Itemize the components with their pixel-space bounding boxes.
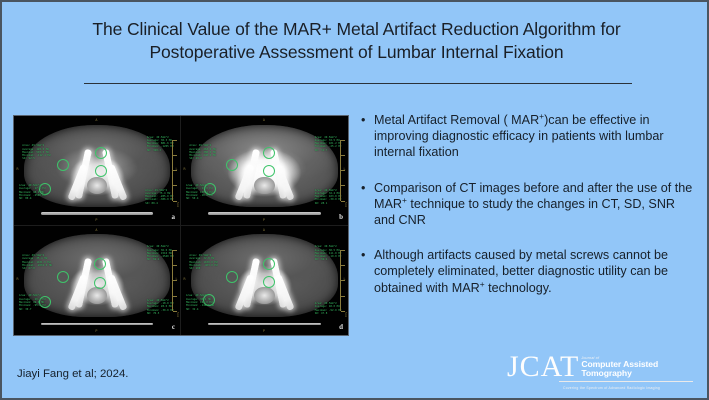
list-item: •Comparison of CT images before and afte… bbox=[360, 180, 698, 229]
roi-annotation: Area: 49.5mm^2 Average: 120.5 HU Maximum… bbox=[22, 144, 50, 160]
presentation-slide: The Clinical Value of the MAR+ Metal Art… bbox=[0, 0, 709, 400]
roi-annotation: Area: 49.5mm^2 Average: -14.0 HU Maximum… bbox=[186, 184, 213, 200]
ct-figure: Area: 49.5mm^2 Average: 120.5 HU Maximum… bbox=[13, 115, 349, 336]
roi-annotation: Area: 49.5mm^2 Average: -20.4 HU Maximum… bbox=[19, 294, 46, 310]
orientation-right: R bbox=[16, 277, 18, 281]
bullet-list: •Metal Artifact Removal ( MAR+)can be ef… bbox=[360, 112, 698, 296]
roi-circle bbox=[94, 258, 106, 270]
orientation-anterior: A bbox=[95, 118, 97, 122]
roi-annotation: Area: 49.5mm^2 Average: 75.4 HU Maximum:… bbox=[145, 189, 173, 205]
page-title: The Clinical Value of the MAR+ Metal Art… bbox=[44, 18, 669, 64]
ct-table-bar bbox=[208, 212, 322, 215]
roi-annotation: Area: 49.5mm^2 Average: 30.5 HU Maximum:… bbox=[315, 245, 342, 261]
roi-circle bbox=[263, 276, 275, 288]
panel-label-c: c bbox=[172, 323, 175, 331]
bullet-text-post: technology. bbox=[485, 281, 552, 295]
orientation-anterior: A bbox=[95, 228, 97, 232]
scale-label: 5cm bbox=[344, 312, 348, 317]
orientation-posterior: P bbox=[95, 218, 97, 222]
orientation-right: R bbox=[16, 167, 18, 171]
roi-annotation: Area: 49.5mm^2 Average: 35.4 HU Maximum:… bbox=[22, 254, 52, 270]
roi-annotation: Area: 49.5mm^2 Average: 33.5 HU Maximum:… bbox=[315, 136, 342, 152]
list-item: •Metal Artifact Removal ( MAR+)can be ef… bbox=[360, 112, 698, 161]
ct-table-bar bbox=[208, 323, 322, 326]
orientation-right: R bbox=[184, 167, 186, 171]
orientation-anterior: A bbox=[263, 118, 265, 122]
ct-panel-a: Area: 49.5mm^2 Average: 120.5 HU Maximum… bbox=[14, 116, 181, 226]
vertebral-body bbox=[254, 177, 274, 194]
orientation-posterior: P bbox=[263, 218, 265, 222]
scale-ruler bbox=[172, 140, 178, 201]
vertebral-body bbox=[87, 287, 107, 305]
roi-annotation: Area: 49.5mm^2 Average: 263.0 HU Maximum… bbox=[189, 144, 216, 160]
bullet-marker: • bbox=[361, 247, 365, 263]
roi-annotation: Area: 49.5mm^2 Average: 32.4 HU Maximum:… bbox=[315, 189, 342, 205]
bullet-marker: • bbox=[361, 112, 365, 128]
orientation-posterior: P bbox=[263, 329, 265, 333]
roi-annotation: Area: 49.5mm^2 Average: 30.4 HU Maximum:… bbox=[186, 294, 214, 310]
logo-wordmark: JCAT bbox=[507, 352, 579, 382]
logo-subtitle-group: Journal of Computer Assisted Tomography bbox=[581, 352, 658, 378]
vertebral-body bbox=[87, 177, 107, 194]
ct-panel-d: Area: 49.5mm^2 Average: 32.8 HU Maximum:… bbox=[181, 226, 348, 336]
roi-annotation: Area: 49.5mm^2 Average: 36.0 HU Maximum:… bbox=[147, 245, 174, 261]
scale-ruler bbox=[340, 250, 346, 311]
panel-label-d: d bbox=[339, 323, 343, 331]
scale-ruler bbox=[172, 250, 178, 311]
ct-table-bar bbox=[41, 323, 154, 326]
roi-annotation: Area: 49.5mm^2 Average: -18.0 HU Maximum… bbox=[147, 299, 174, 315]
orientation-anterior: A bbox=[263, 228, 265, 232]
roi-annotation: Area: 49.5mm^2 Average: 30.3 HU Maximum:… bbox=[147, 136, 174, 152]
citation: Jiayi Fang et al; 2024. bbox=[17, 368, 128, 380]
roi-circle bbox=[263, 165, 275, 177]
panel-label-b: b bbox=[339, 213, 343, 221]
scale-label: 5cm bbox=[344, 202, 348, 207]
bullet-text-post: technique to study the changes in CT, SD… bbox=[374, 197, 675, 227]
scale-ruler bbox=[340, 140, 346, 201]
orientation-posterior: P bbox=[95, 329, 97, 333]
panel-label-a: a bbox=[172, 213, 176, 221]
roi-annotation: Area: 49.5mm^2 Average: -17.4 HU Maximum… bbox=[19, 184, 46, 200]
logo-divider bbox=[559, 381, 693, 382]
ct-table-bar bbox=[41, 212, 154, 215]
roi-annotation: Area: 49.5mm^2 Average: 40.0 HU Maximum:… bbox=[315, 302, 342, 315]
roi-circle bbox=[94, 277, 106, 289]
logo-lockup: JCAT Journal of Computer Assisted Tomogr… bbox=[507, 352, 658, 382]
title-divider bbox=[84, 83, 632, 84]
ct-panel-c: Area: 49.5mm^2 Average: 35.4 HU Maximum:… bbox=[14, 226, 181, 336]
bullet-marker: • bbox=[361, 180, 365, 196]
roi-annotation: Area: 49.5mm^2 Average: 32.8 HU Maximum:… bbox=[189, 254, 217, 270]
scale-label: 5cm bbox=[176, 202, 180, 207]
vertebral-body bbox=[254, 287, 274, 305]
ct-panel-b: Area: 49.5mm^2 Average: 263.0 HU Maximum… bbox=[181, 116, 348, 226]
logo-tagline: Covering the Spectrum of Advanced Radiol… bbox=[563, 386, 660, 390]
orientation-right: R bbox=[184, 277, 186, 281]
jcat-logo: JCAT Journal of Computer Assisted Tomogr… bbox=[507, 350, 697, 392]
list-item: •Although artifacts caused by metal scre… bbox=[360, 247, 698, 296]
logo-line-2: Tomography bbox=[581, 369, 658, 378]
scale-label: 5cm bbox=[176, 312, 180, 317]
bullet-text-pre: Metal Artifact Removal ( MAR bbox=[374, 113, 539, 127]
